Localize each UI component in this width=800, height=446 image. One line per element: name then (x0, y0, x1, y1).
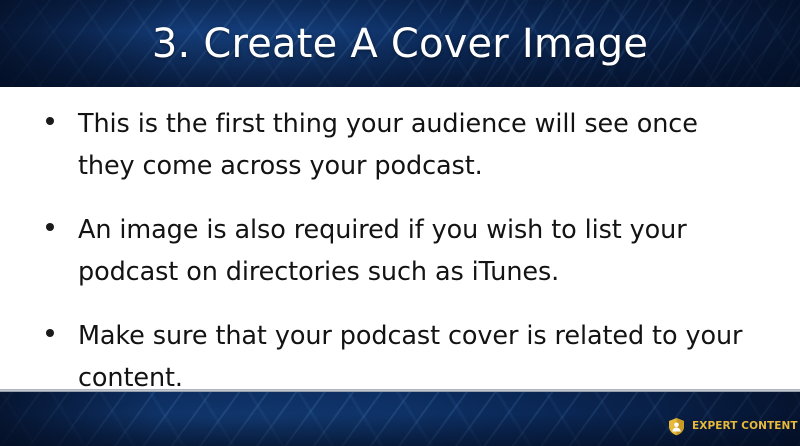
bullet-text: An image is also required if you wish to… (78, 215, 687, 287)
slide-body: This is the first thing your audience wi… (0, 87, 800, 392)
logo-word-main: EXPERT CONTENT (692, 420, 798, 432)
bullet-item: This is the first thing your audience wi… (0, 103, 800, 187)
bullet-item: An image is also required if you wish to… (0, 209, 800, 293)
slide-canvas: 3. Create A Cover Image This is the firs… (0, 0, 800, 446)
bullet-dot-icon (46, 223, 54, 231)
bullet-text: Make sure that your podcast cover is rel… (78, 321, 742, 393)
slide-title: 3. Create A Cover Image (0, 19, 800, 69)
bullet-dot-icon (46, 329, 54, 337)
bullet-item: Make sure that your podcast cover is rel… (0, 315, 800, 399)
brand-logo: EXPERT CONTENT VIDEOS (667, 416, 800, 436)
bullet-text: This is the first thing your audience wi… (78, 109, 698, 181)
bullet-list: This is the first thing your audience wi… (0, 103, 800, 421)
logo-wordmark: EXPERT CONTENT VIDEOS (692, 420, 800, 432)
shield-person-icon (667, 417, 686, 436)
bullet-dot-icon (46, 117, 54, 125)
